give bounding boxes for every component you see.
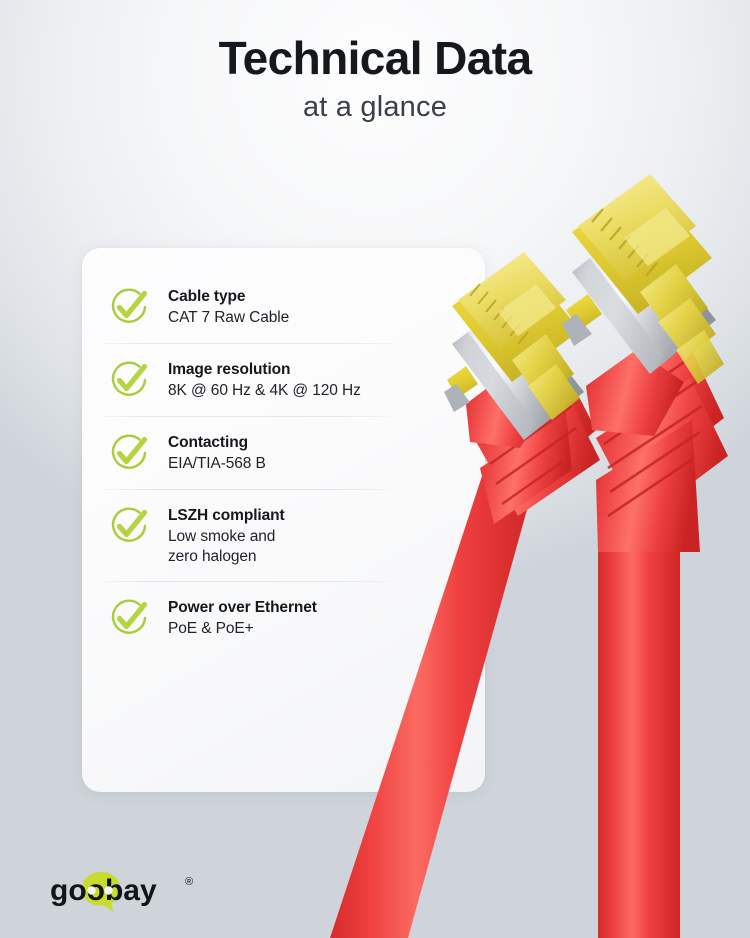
spec-row-text: Image resolution 8K @ 60 Hz & 4K @ 120 H… xyxy=(168,356,361,401)
spec-row-text: LSZH compliant Low smoke and zero haloge… xyxy=(168,502,285,568)
spec-row-value: 8K @ 60 Hz & 4K @ 120 Hz xyxy=(168,381,361,402)
check-circle-icon xyxy=(106,595,152,641)
spec-row-value: PoE & PoE+ xyxy=(168,619,317,640)
spec-row-text: Contacting EIA/TIA-568 B xyxy=(168,429,266,474)
spec-row-title: Power over Ethernet xyxy=(168,599,317,616)
spec-row-text: Cable type CAT 7 Raw Cable xyxy=(168,283,289,328)
rj45-connector-front xyxy=(562,174,728,938)
page-subtitle: at a glance xyxy=(0,92,750,124)
logo-wordmark: goobay xyxy=(50,874,157,907)
spec-row-power-over-ethernet: Power over Ethernet PoE & PoE+ xyxy=(82,581,485,654)
spec-row-cable-type: Cable type CAT 7 Raw Cable xyxy=(82,270,485,343)
spec-row-image-resolution: Image resolution 8K @ 60 Hz & 4K @ 120 H… xyxy=(82,343,485,416)
spec-row-title: Contacting xyxy=(168,434,248,451)
spec-row-title: LSZH compliant xyxy=(168,507,285,524)
infographic-page: Technical Data at a glance xyxy=(0,0,750,938)
brand-logo: goobay ® xyxy=(46,869,206,913)
check-circle-icon xyxy=(106,357,152,403)
page-header: Technical Data at a glance xyxy=(0,34,750,124)
check-circle-icon xyxy=(106,284,152,330)
spec-row-contacting: Contacting EIA/TIA-568 B xyxy=(82,416,485,489)
check-circle-icon xyxy=(106,503,152,549)
spec-card: Cable type CAT 7 Raw Cable Image resolut… xyxy=(82,248,485,792)
page-title: Technical Data xyxy=(0,34,750,84)
spec-rows: Cable type CAT 7 Raw Cable Image resolut… xyxy=(82,248,485,654)
spec-row-title: Cable type xyxy=(168,288,245,305)
spec-row-value: CAT 7 Raw Cable xyxy=(168,308,289,329)
spec-row-lszh-compliant: LSZH compliant Low smoke and zero haloge… xyxy=(82,489,485,581)
spec-row-value: EIA/TIA-568 B xyxy=(168,454,266,475)
spec-row-text: Power over Ethernet PoE & PoE+ xyxy=(168,594,317,639)
check-circle-icon xyxy=(106,430,152,476)
spec-row-value: Low smoke and zero halogen xyxy=(168,527,285,568)
logo-registered-mark: ® xyxy=(185,876,193,888)
spec-row-title: Image resolution xyxy=(168,361,290,378)
